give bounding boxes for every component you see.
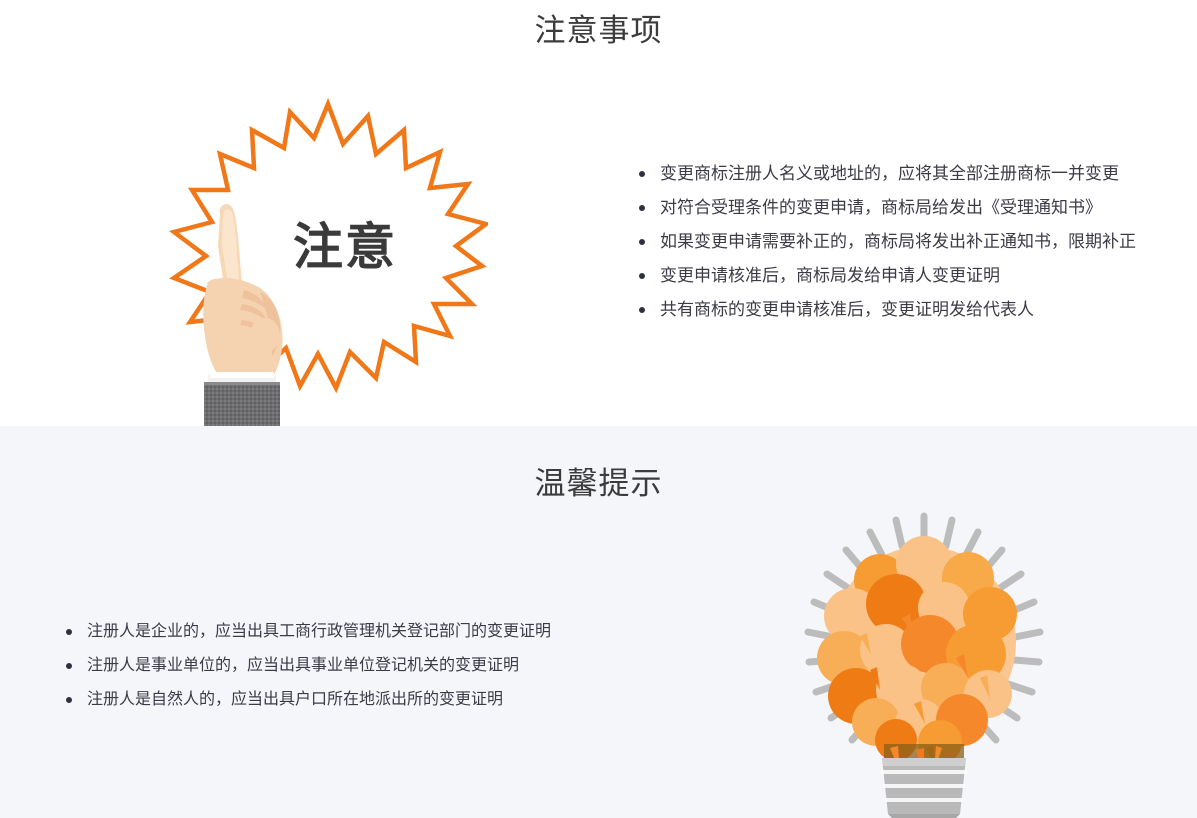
idea-lightbulb-illustration [784,508,1064,818]
list-item: 注册人是自然人的，应当出具户口所在地派出所的变更证明 [64,683,664,717]
attention-starburst-illustration: 注意 [168,96,488,426]
notice-section: 注意事项 注意 [0,0,1197,426]
starburst-text: 注意 [293,219,397,275]
list-item: 注册人是企业的，应当出具工商行政管理机关登记部门的变更证明 [64,615,664,649]
tips-bullet-list: 注册人是企业的，应当出具工商行政管理机关登记部门的变更证明 注册人是事业单位的，… [64,615,664,717]
notice-bullet-list: 变更商标注册人名义或地址的，应将其全部注册商标一并变更 对符合受理条件的变更申请… [637,157,1197,327]
list-item: 共有商标的变更申请核准后，变更证明发给代表人 [637,293,1197,327]
tips-section-title: 温馨提示 [0,468,1197,499]
notice-section-title: 注意事项 [0,15,1197,46]
list-item: 对符合受理条件的变更申请，商标局给发出《受理通知书》 [637,191,1197,225]
bulb-screw-base-icon [881,758,967,818]
list-item: 注册人是事业单位的，应当出具事业单位登记机关的变更证明 [64,649,664,683]
list-item: 变更申请核准后，商标局发给申请人变更证明 [637,259,1197,293]
list-item: 变更商标注册人名义或地址的，应将其全部注册商标一并变更 [637,157,1197,191]
list-item: 如果变更申请需要补正的，商标局将发出补正通知书，限期补正 [637,225,1197,259]
